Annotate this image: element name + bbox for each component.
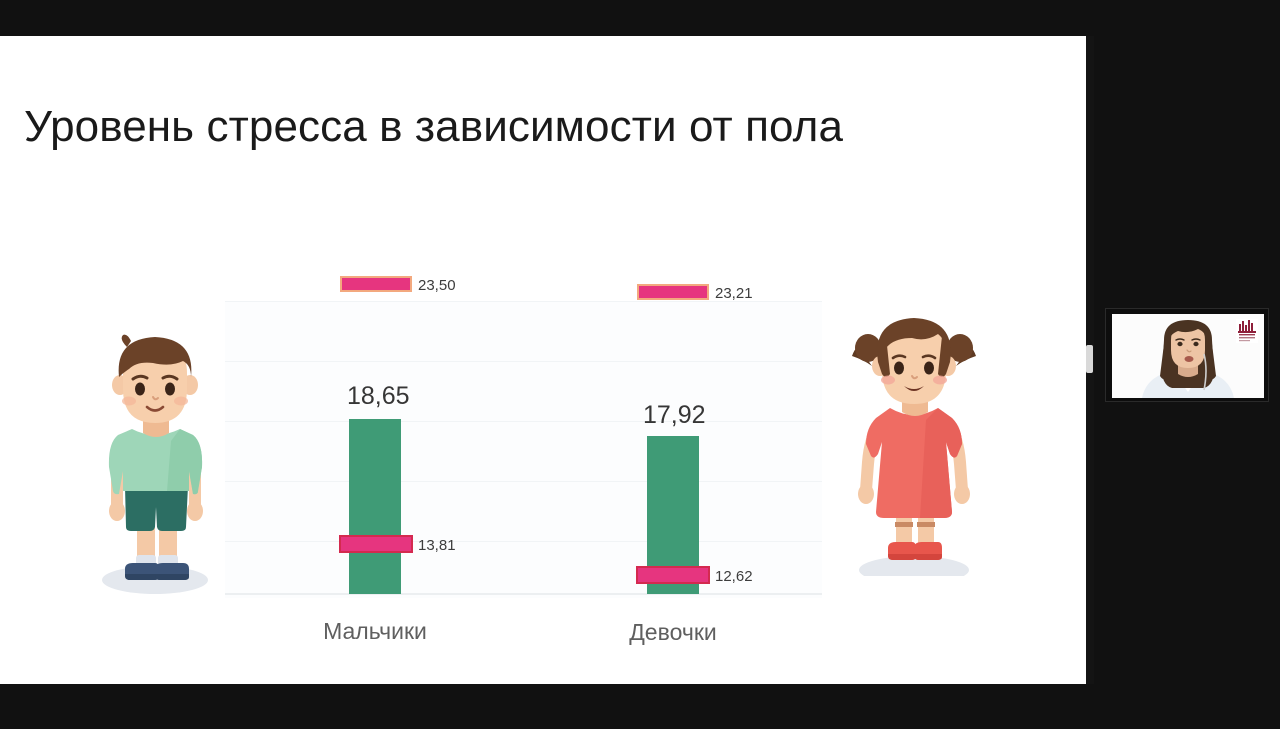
plot-area <box>225 301 822 598</box>
panel-resize-handle[interactable] <box>1086 345 1093 373</box>
girls-top-value: 23,21 <box>715 285 753 302</box>
boys-low-marker[interactable] <box>339 535 413 553</box>
axis-baseline <box>225 593 822 595</box>
page-title: Уровень стресса в зависимости от пола <box>24 102 843 151</box>
boys-low-value: 13,81 <box>418 537 456 554</box>
girls-low-marker[interactable] <box>636 566 710 584</box>
girls-top-marker[interactable] <box>637 284 709 300</box>
category-label-girls: Девочки <box>598 619 748 646</box>
boys-top-value: 23,50 <box>418 277 456 294</box>
gridline <box>225 481 822 482</box>
category-label-boys: Мальчики <box>300 618 450 645</box>
boys-bar[interactable] <box>349 419 401 594</box>
gridline <box>225 421 822 422</box>
presenter-video <box>1112 314 1264 398</box>
girls-bar-value: 17,92 <box>643 401 706 430</box>
girls-low-value: 12,62 <box>715 568 753 585</box>
screen-share-view: Уровень стресса в зависимости от пола <box>0 0 1280 729</box>
organization-logo <box>1236 319 1258 343</box>
participant-video-tile[interactable] <box>1105 308 1269 402</box>
gridline <box>225 541 822 542</box>
presentation-slide[interactable]: Уровень стресса в зависимости от пола <box>0 36 1086 684</box>
boys-bar-value: 18,65 <box>347 382 410 411</box>
boys-top-marker[interactable] <box>340 276 412 292</box>
gridline <box>225 361 822 362</box>
bar-chart[interactable]: 23,50 18,65 13,81 Мальчики 23,21 17,92 1… <box>0 196 1086 666</box>
